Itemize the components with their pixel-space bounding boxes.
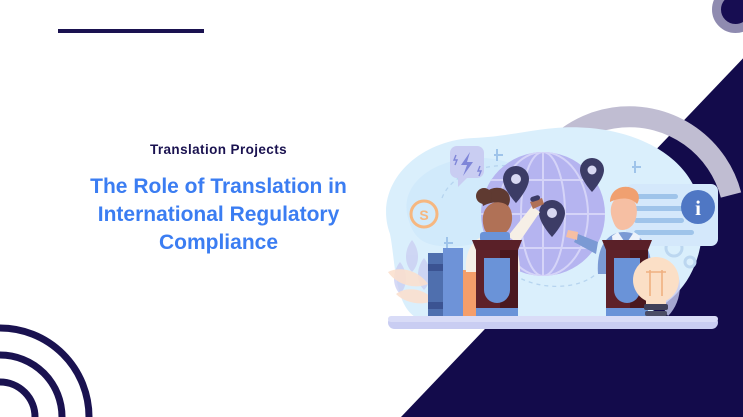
divider-rule: [58, 29, 204, 33]
svg-text:i: i: [695, 196, 701, 220]
text-block: Translation Projects The Role of Transla…: [52, 142, 385, 257]
page-title: The Role of Translation in International…: [52, 173, 385, 257]
eyebrow-label: Translation Projects: [52, 142, 385, 157]
podium-left: [472, 232, 522, 316]
svg-text:S: S: [419, 207, 428, 223]
platform-highlight: [388, 316, 718, 322]
international-conference-illustration: S i: [380, 122, 725, 340]
slide-canvas: Translation Projects The Role of Transla…: [0, 0, 743, 417]
concentric-arcs: [0, 287, 130, 417]
